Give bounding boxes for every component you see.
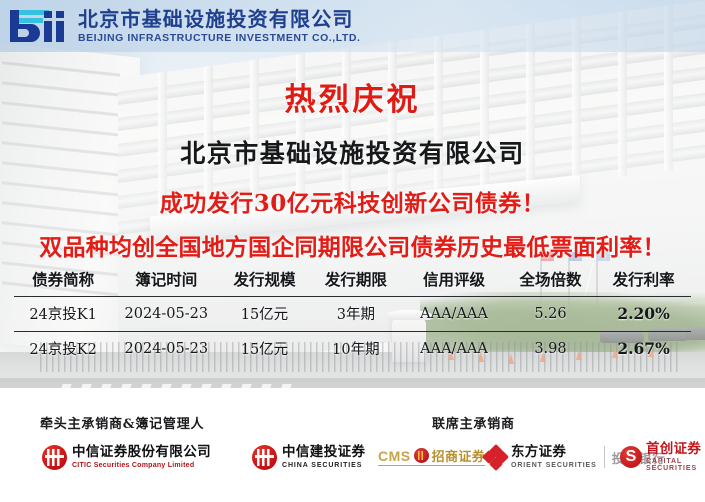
china-securities-seal-icon (252, 445, 277, 470)
bii-logo-icon (9, 9, 67, 43)
company-brand: 北京市基础设施投资有限公司 BEIJING INFRASTRUCTURE INV… (78, 9, 361, 44)
cell-tenor: 3年期 (308, 297, 403, 332)
bond-details-table: 债券简称 簿记时间 发行规模 发行期限 信用评级 全场倍数 发行利率 24京投K… (14, 265, 691, 366)
cell-book-date: 2024-05-23 (112, 332, 220, 367)
china-securities-name-cn: 中信建投证券 (282, 445, 365, 459)
china-securities-name-en: CHINA SECURITIES (282, 462, 365, 469)
orient-name-cn: 东方证券 (511, 445, 597, 459)
cell-bond-name: 24京投K2 (14, 332, 112, 367)
orient-name-en: ORIENT SECURITIES (511, 462, 597, 469)
cell-book-date: 2024-05-23 (112, 297, 220, 332)
underwriter-logo-row: 中信证券股份有限公司 CITIC Securities Company Limi… (0, 440, 705, 474)
column-header-book-date: 簿记时间 (112, 265, 220, 297)
joint-underwriter-title: 联席主承销商 (432, 413, 515, 432)
headline-record-rate: 双品种均创全国地方国企同期限公司债券历史最低票面利率！ (0, 228, 705, 262)
column-header-issue-size: 发行规模 (220, 265, 308, 297)
column-header-subscription-multiple: 全场倍数 (505, 265, 596, 297)
table-header-row: 债券简称 簿记时间 发行规模 发行期限 信用评级 全场倍数 发行利率 (14, 265, 691, 297)
lead-underwriter-title: 牵头主承销商&簿记管理人 (40, 413, 204, 432)
capital-name-en: CAPITAL SECURITIES (646, 458, 705, 472)
cell-subscription-multiple: 3.98 (505, 332, 596, 367)
headline-celebration: 热烈庆祝 (0, 74, 705, 119)
orient-diamond-icon (484, 446, 507, 469)
column-header-tenor: 发行期限 (308, 265, 403, 297)
cms-abbr: CMS (378, 448, 411, 464)
headline-issuance: 成功发行30亿元科技创新公司债券！ (0, 184, 705, 218)
promotional-poster: 北京市基础设施投资有限公司 BEIJING INFRASTRUCTURE INV… (0, 0, 705, 502)
capital-s-icon (620, 446, 642, 468)
underwriter-logo-capital: 首创证券 CAPITAL SECURITIES (620, 440, 705, 474)
cms-name-cn: 招商证券 (432, 446, 486, 465)
company-header-bar: 北京市基础设施投资有限公司 BEIJING INFRASTRUCTURE INV… (0, 0, 705, 52)
headline-block: 热烈庆祝 北京市基础设施投资有限公司 成功发行30亿元科技创新公司债券！ 双品种… (0, 52, 705, 262)
cell-coupon-rate: 2.20% (596, 297, 691, 332)
column-header-coupon-rate: 发行利率 (596, 265, 691, 297)
headline-issuer-name: 北京市基础设施投资有限公司 (0, 134, 705, 170)
cell-issue-size: 15亿元 (220, 332, 308, 367)
underwriter-logo-cms: CMS 招商证券 (378, 440, 485, 474)
cell-coupon-rate: 2.67% (596, 332, 691, 367)
citic-name-cn: 中信证券股份有限公司 (72, 445, 211, 459)
underwriters-footer: 牵头主承销商&簿记管理人 联席主承销商 中信证券股份有限公司 CITIC Sec… (0, 388, 705, 502)
orient-divider (604, 446, 605, 468)
citic-seal-icon (42, 445, 67, 470)
company-name-cn: 北京市基础设施投资有限公司 (78, 9, 361, 29)
cell-credit-rating: AAA/AAA (403, 332, 505, 367)
cms-badge-icon (414, 448, 429, 463)
cell-tenor: 10年期 (308, 332, 403, 367)
table-row: 24京投K1 2024-05-23 15亿元 3年期 AAA/AAA 5.26 … (14, 297, 691, 332)
cell-bond-name: 24京投K1 (14, 297, 112, 332)
underwriter-logo-china-securities: 中信建投证券 CHINA SECURITIES (252, 440, 365, 474)
citic-name-en: CITIC Securities Company Limited (72, 462, 211, 469)
cell-issue-size: 15亿元 (220, 297, 308, 332)
column-header-bond-name: 债券简称 (14, 265, 112, 297)
cell-subscription-multiple: 5.26 (505, 297, 596, 332)
table-row: 24京投K2 2024-05-23 15亿元 10年期 AAA/AAA 3.98… (14, 332, 691, 367)
underwriter-logo-citic: 中信证券股份有限公司 CITIC Securities Company Limi… (42, 440, 211, 474)
capital-name-cn: 首创证券 (646, 442, 705, 456)
cms-underline (378, 465, 485, 466)
company-name-en: BEIJING INFRASTRUCTURE INVESTMENT CO.,LT… (78, 33, 361, 44)
cell-credit-rating: AAA/AAA (403, 297, 505, 332)
column-header-credit-rating: 信用评级 (403, 265, 505, 297)
